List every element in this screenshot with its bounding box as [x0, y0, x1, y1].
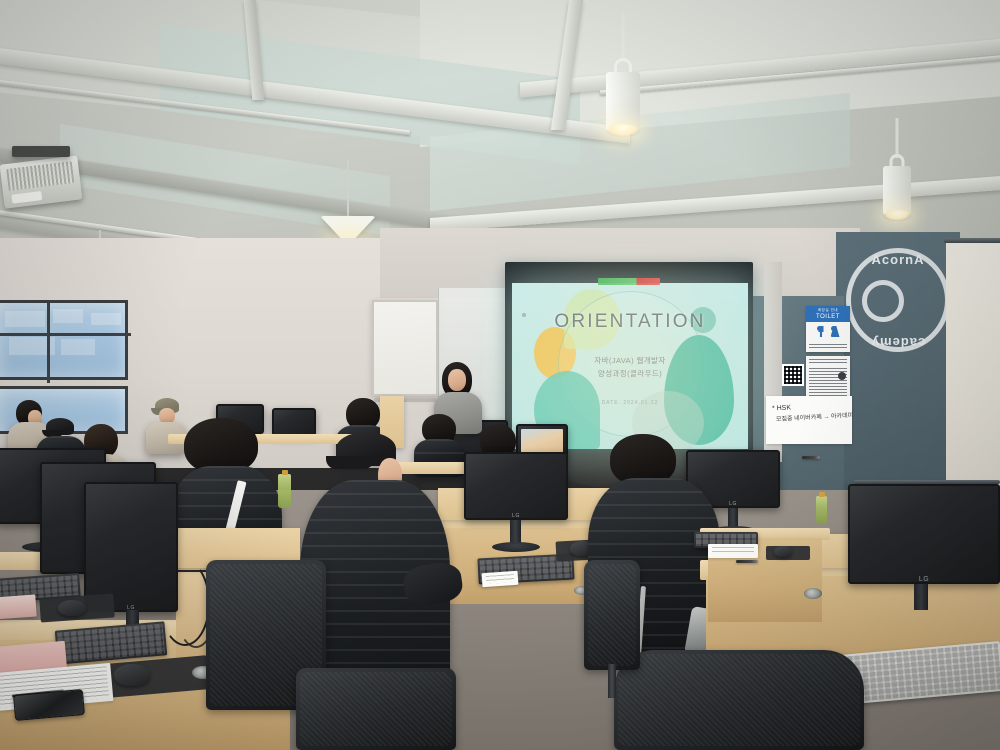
monitor-stand	[914, 584, 928, 610]
monitor-brand-label: LG	[919, 576, 929, 583]
acorn-academy-logo: AcornA cademy	[846, 248, 950, 352]
logo-text-bottom: cademy	[846, 335, 950, 350]
qr-code	[782, 364, 804, 386]
mouse[interactable]	[114, 664, 150, 686]
mouse[interactable]	[774, 546, 792, 557]
instructor-face	[448, 369, 466, 391]
mouse[interactable]	[58, 600, 86, 616]
handout	[482, 571, 519, 587]
slide-title: ORIENTATION	[512, 311, 748, 333]
beverage-bottle	[278, 474, 291, 508]
student-cap	[46, 418, 74, 435]
marker-pen	[802, 456, 820, 459]
slide-subtitle-line1: 자바(JAVA) 웹개발자	[594, 356, 665, 365]
slide-date: DATE. 2024.01.22	[512, 400, 748, 406]
toilet-sign-title: TOILET	[816, 314, 840, 320]
window	[0, 300, 128, 380]
notice-poster-seal-icon	[838, 372, 846, 380]
chair-post	[608, 664, 616, 698]
track-spotlight	[878, 118, 916, 238]
front-whiteboard	[372, 300, 438, 396]
slide-subtitle-line2: 양성과정(클라우드)	[598, 369, 662, 378]
notice-poster-header	[809, 359, 847, 364]
monitor: LG	[848, 484, 1000, 584]
notebook	[0, 594, 37, 619]
pen	[736, 560, 758, 563]
cable-grommet	[804, 588, 822, 599]
logo-inner-ring	[862, 280, 904, 322]
handout	[708, 544, 758, 558]
office-chair[interactable]	[584, 560, 654, 700]
monitor-brand-label: LG	[512, 513, 520, 519]
toilet-sign: 화장실 안내 TOILET	[806, 306, 850, 352]
classroom-photo: ORIENTATION 자바(JAVA) 웹개발자 양성과정(클라우드) DAT…	[0, 0, 1000, 750]
chair-backrest	[584, 560, 640, 670]
monitor-base	[492, 542, 540, 552]
beverage-bottle	[816, 496, 827, 524]
handwriting-line-1: * HSK	[772, 404, 792, 414]
monitor-brand-label: LG	[729, 501, 737, 507]
screen-share-notification-bar	[598, 278, 660, 285]
monitor: LG	[464, 452, 568, 520]
projector-mount	[12, 146, 70, 157]
slide-subtitle: 자바(JAVA) 웹개발자 양성과정(클라우드)	[512, 355, 748, 381]
toilet-sign-korean: 화장실 안내	[806, 307, 850, 314]
track-spotlight	[600, 12, 646, 152]
logo-text-top: AcornA	[846, 252, 950, 267]
toilet-sign-text	[809, 344, 847, 350]
toilet-sign-header: 화장실 안내 TOILET	[806, 306, 850, 322]
chair-backrest	[296, 668, 456, 750]
office-chair[interactable]	[296, 668, 456, 750]
